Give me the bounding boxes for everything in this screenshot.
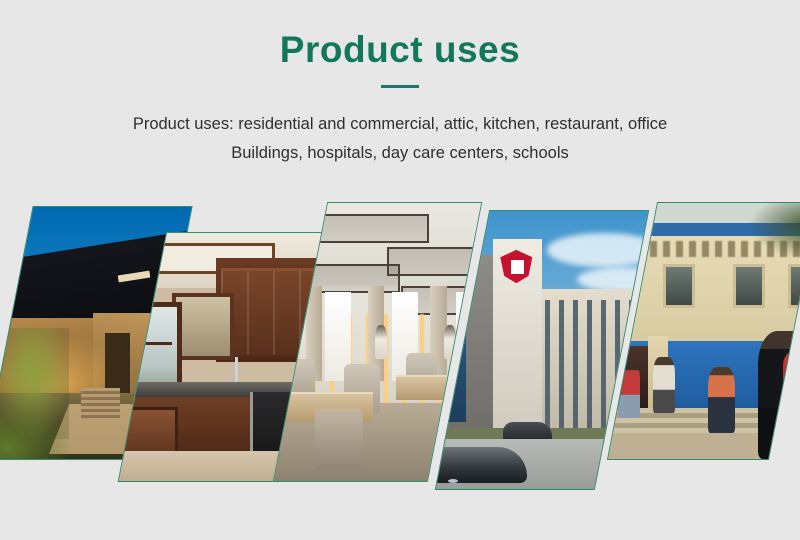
restaurant-person-shape [444,325,456,358]
hospital-logo-cross-icon [511,260,521,274]
page-header: Product uses Product uses: residential a… [0,0,800,167]
page-subtitle: Product uses: residential and commercial… [120,110,680,168]
car-wheel-shape [448,479,458,483]
school-student-shape [618,362,640,418]
restaurant-pendant-lamp-shape [387,247,482,276]
school-foliage-shape [748,202,800,259]
sky-cloud-shape [547,233,649,266]
restaurant-chair-shape [315,409,363,470]
school-window-shape [733,264,765,308]
school-student-shape [653,357,675,413]
restaurant-person-shape [375,325,387,358]
product-uses-gallery [0,180,800,540]
kitchen-faucet-shape [236,357,239,384]
school-window-shape [663,264,695,308]
school-foreground-student-shape [758,331,800,459]
school-student-shape [708,367,735,434]
hospital-foreground-car-shape [435,447,527,483]
school-backpack-shape [783,351,800,418]
school-window-shape [788,264,800,308]
page-title: Product uses [0,0,800,71]
title-underline-rule [381,85,419,88]
house-shrub-shape [0,404,68,459]
house-steps-shape [81,388,120,418]
